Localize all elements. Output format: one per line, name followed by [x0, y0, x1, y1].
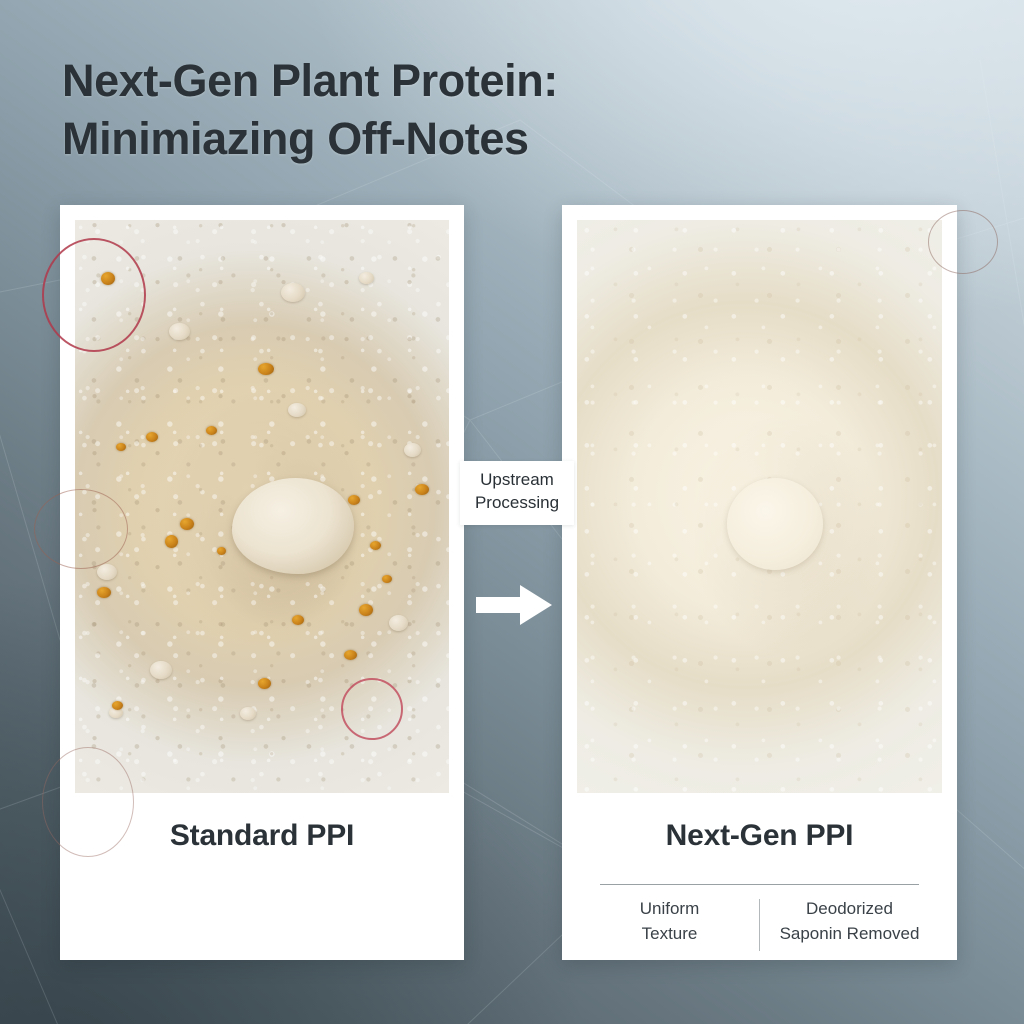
saponin-speck [348, 495, 360, 505]
saponin-speck [146, 432, 158, 442]
saponin-speck [217, 547, 226, 555]
upstream-processing-label: Upstream Processing [460, 461, 574, 525]
saponin-speck [101, 272, 115, 285]
powder-lump [150, 661, 172, 679]
standard-ppi-photo [75, 220, 449, 793]
page-title: Next-Gen Plant Protein: Minimiazing Off-… [62, 52, 822, 167]
saponin-speck [382, 575, 392, 583]
saponin-speck [344, 650, 357, 660]
saponin-speck [415, 484, 429, 495]
feature-line-2: Saponin Removed [766, 922, 933, 947]
panel-caption-standard: Standard PPI [60, 819, 464, 853]
feature-divider [600, 884, 919, 885]
upstream-processing-line-1: Upstream [462, 469, 572, 492]
next-gen-ppi-photo [577, 220, 942, 793]
saponin-speck [165, 535, 178, 548]
feature-list: Uniform Texture Deodorized Saponin Remov… [586, 897, 933, 951]
panel-standard-ppi[interactable]: Standard PPI [60, 205, 464, 960]
feature-line-2: Texture [586, 922, 753, 947]
feature-uniform-texture: Uniform Texture [586, 897, 753, 946]
powder-lump [359, 272, 374, 284]
feature-line-1: Uniform [586, 897, 753, 922]
powder-lump [281, 283, 305, 302]
page-title-line-1: Next-Gen Plant Protein: [62, 52, 822, 110]
smooth-center-patch [727, 478, 823, 570]
panel-caption-next-gen: Next-Gen PPI [562, 819, 957, 853]
feature-line-1: Deodorized [766, 897, 933, 922]
upstream-processing-line-2: Processing [462, 492, 572, 515]
panel-next-gen-ppi[interactable]: Next-Gen PPI Uniform Texture Deodorized … [562, 205, 957, 960]
page-title-line-2: Minimiazing Off-Notes [62, 110, 822, 168]
saponin-speck [180, 518, 194, 530]
powder-large-clump [232, 478, 354, 574]
saponin-speck [97, 587, 111, 598]
arrow-right-icon [476, 582, 552, 628]
feature-deodorized-saponin-removed: Deodorized Saponin Removed [766, 897, 933, 946]
feature-separator [759, 899, 760, 951]
powder-lump [240, 707, 256, 720]
powder-lump [169, 323, 190, 340]
comparison-infographic: Next-Gen Plant Protein: Minimiazing Off-… [0, 0, 1024, 1024]
